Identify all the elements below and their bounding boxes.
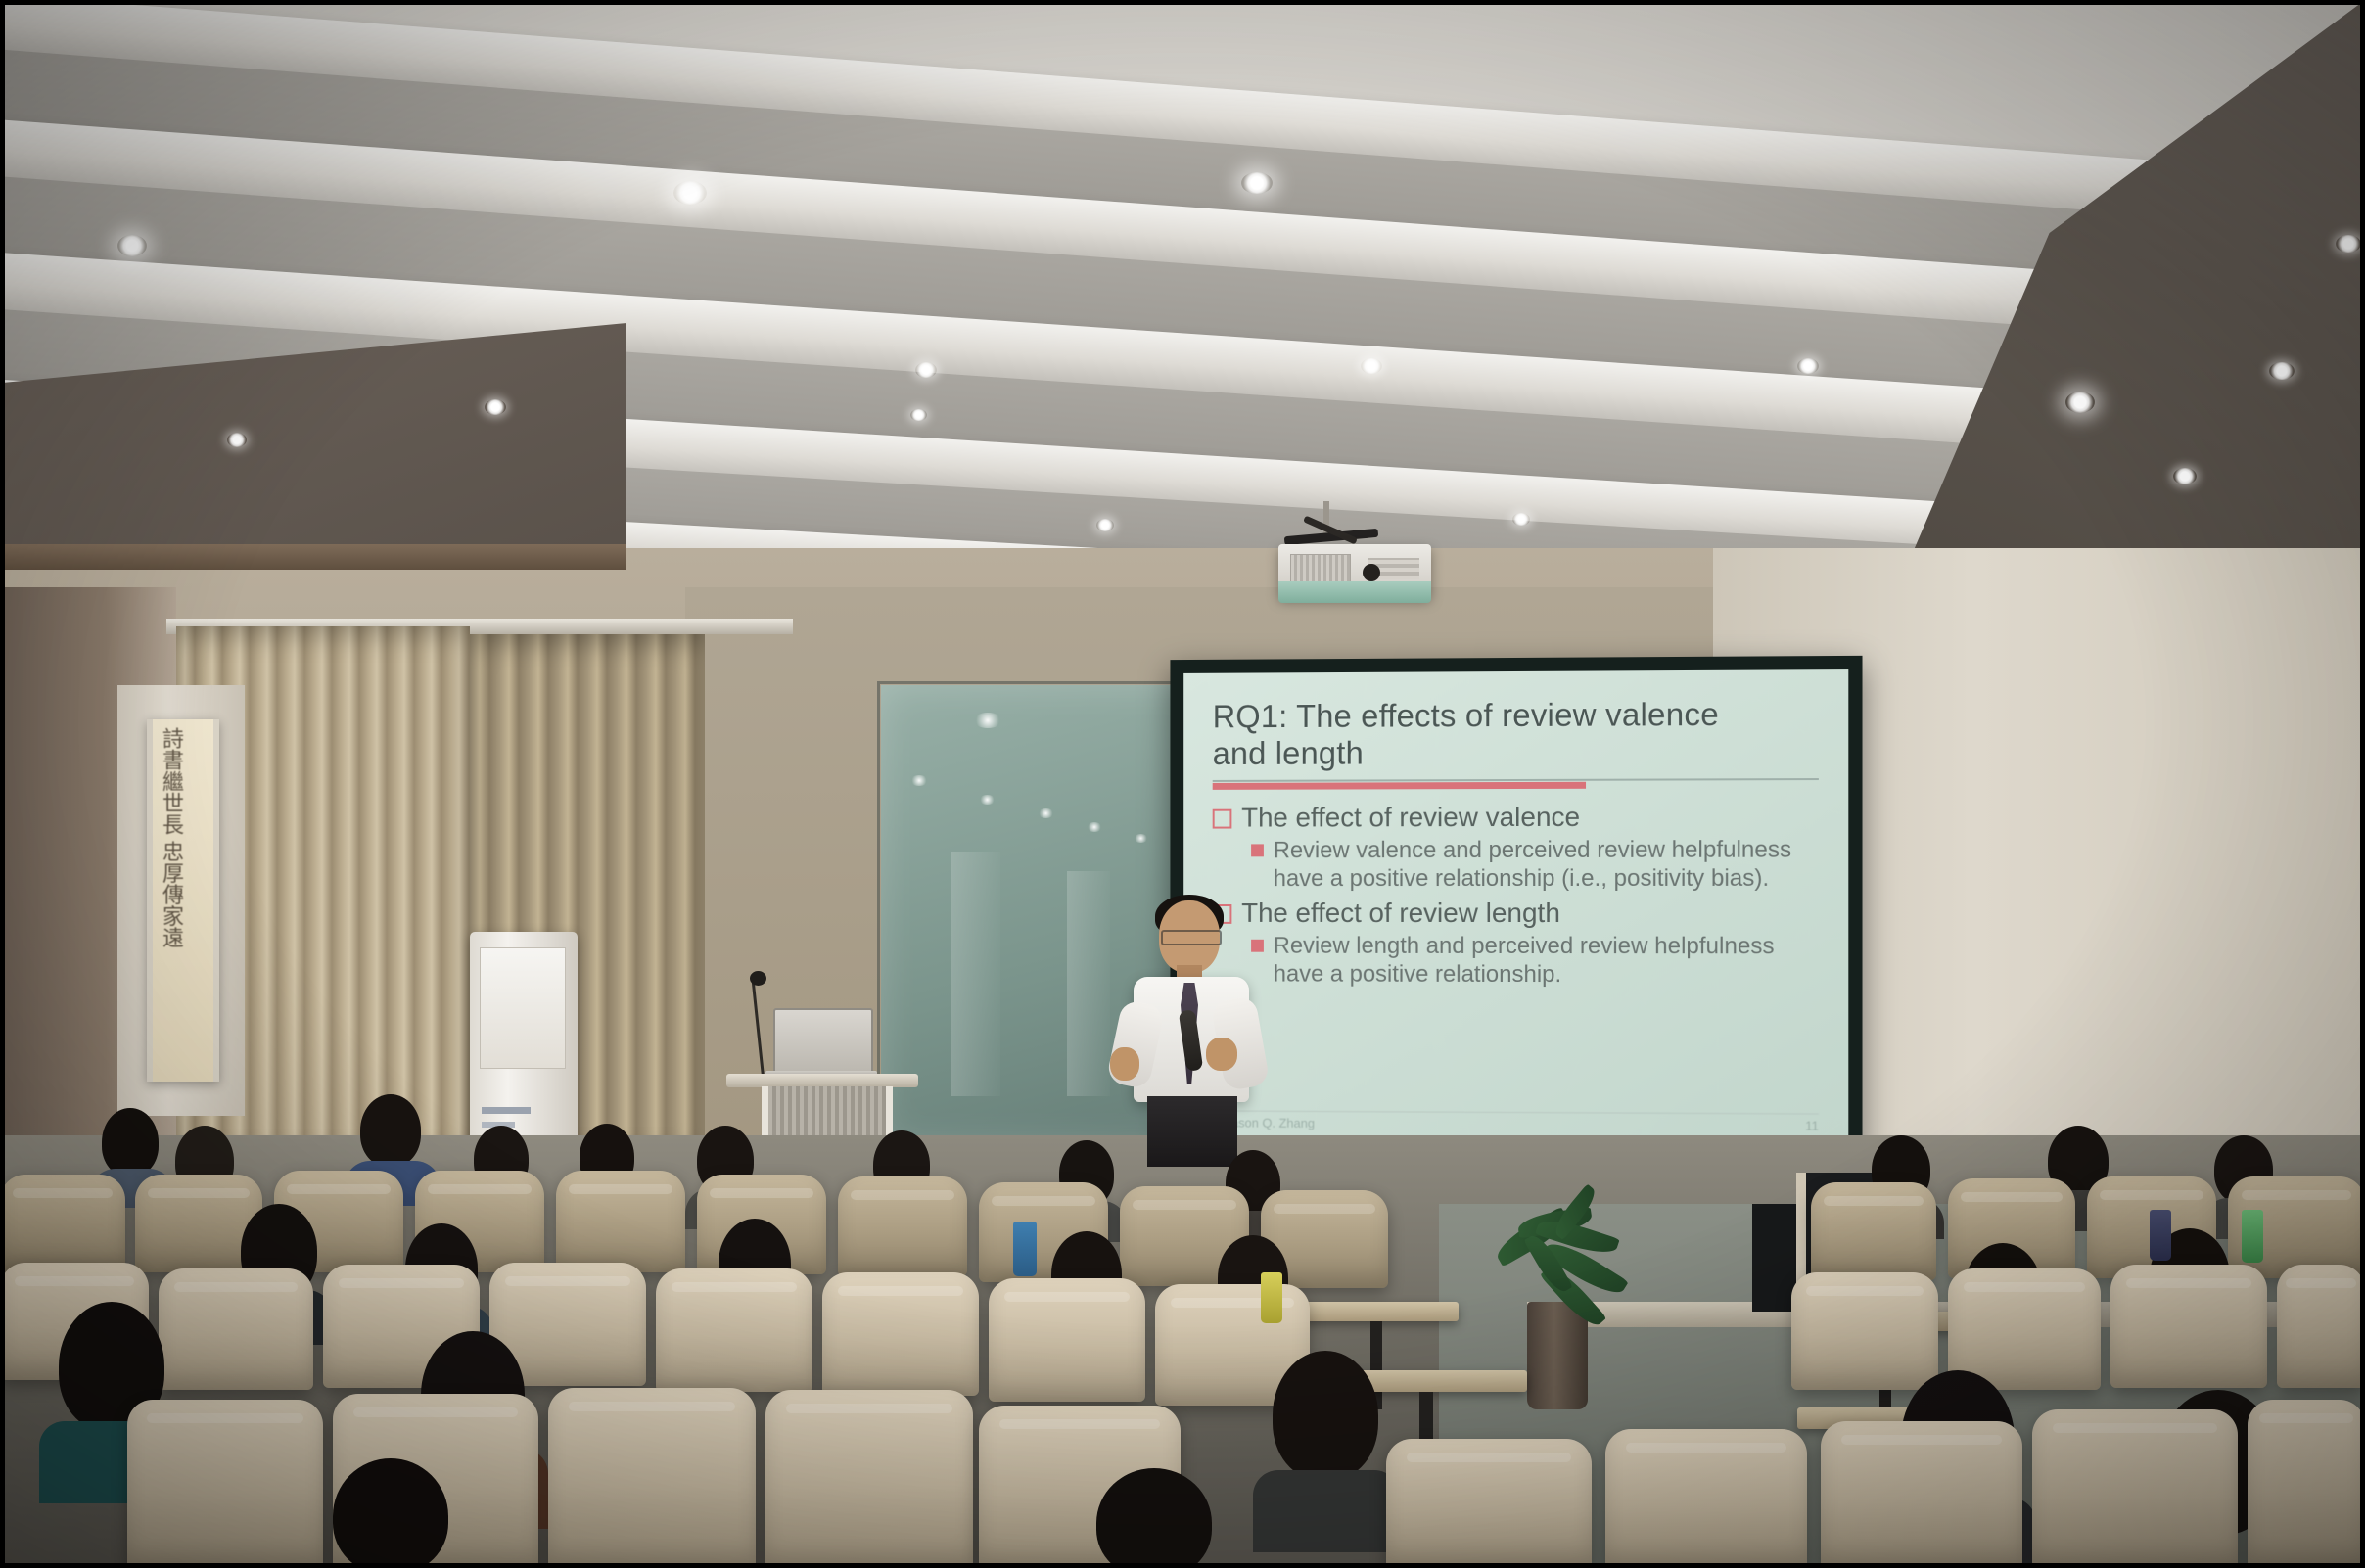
audience-person — [1253, 1351, 1400, 1546]
auditorium-seat[interactable] — [0, 1175, 125, 1272]
downlight-icon — [2173, 468, 2197, 484]
bullet-text: Review length and perceived review helpf… — [1274, 932, 1819, 990]
person-head — [360, 1094, 421, 1167]
laptop-screen[interactable] — [773, 1008, 873, 1077]
slide-title-line-2: and length — [1213, 733, 1819, 772]
bullet-text: Review valence and perceived review help… — [1274, 835, 1819, 893]
scroll-glyphs: 詩書繼世長 忠厚傳家遠 — [159, 727, 184, 1072]
slide-footer: © Jason Q. Zhang 11 — [1213, 1110, 1819, 1132]
bullet-text: The effect of review length — [1241, 897, 1560, 930]
water-bottle[interactable] — [2150, 1210, 2171, 1261]
wall-trim — [0, 544, 626, 570]
auditorium-seat[interactable] — [556, 1171, 685, 1272]
microphone-icon — [750, 971, 766, 986]
person-head — [1096, 1468, 1212, 1568]
downlight-icon — [1241, 172, 1273, 194]
auditorium-seat[interactable] — [989, 1278, 1145, 1402]
downlight-icon — [1797, 358, 1819, 374]
filled-square-bullet-icon — [1251, 844, 1264, 856]
projector-lens-icon — [1363, 564, 1380, 581]
downlight-icon — [2065, 392, 2095, 413]
slide-title: RQ1: The effects of review valence and l… — [1213, 695, 1819, 772]
downlight-icon — [227, 433, 247, 447]
person-head — [1273, 1351, 1378, 1480]
auditorium-seat[interactable] — [1605, 1429, 1807, 1568]
auditorium-seat[interactable] — [1386, 1439, 1592, 1568]
ac-label — [482, 1107, 531, 1114]
presenter-right-hand — [1206, 1038, 1237, 1071]
plant-pot — [1527, 1302, 1588, 1409]
water-bottle[interactable] — [2242, 1210, 2263, 1263]
slide-title-line-1: RQ1: The effects of review valence — [1213, 695, 1819, 735]
person-body — [1253, 1470, 1400, 1552]
downlight-icon — [117, 235, 147, 256]
auditorium-seat[interactable] — [838, 1176, 967, 1276]
ac-grill — [480, 947, 566, 1069]
downlight-icon — [1512, 513, 1530, 526]
lecture-hall-photo: 詩書繼世長 忠厚傳家遠 RQ1: — [0, 0, 2365, 1568]
tablet-desk — [1302, 1302, 1459, 1321]
audience-person — [1077, 1468, 1233, 1568]
auditorium-seat[interactable] — [2277, 1265, 2365, 1388]
downlight-icon — [673, 181, 707, 205]
slide-bullet-level2: Review valence and perceived review help… — [1251, 835, 1819, 893]
downlight-icon — [915, 362, 937, 378]
auditorium-seat[interactable] — [2032, 1409, 2238, 1568]
air-conditioner-unit — [470, 932, 578, 1147]
presentation-slide: RQ1: The effects of review valence and l… — [1183, 669, 1848, 1143]
bullet-text: The effect of review valence — [1241, 801, 1580, 835]
projector-glow — [1278, 581, 1431, 603]
slide-page-number: 11 — [1805, 1119, 1819, 1133]
lectern-top — [726, 1074, 918, 1087]
auditorium-seat[interactable] — [548, 1388, 756, 1568]
water-bottle[interactable] — [1013, 1222, 1037, 1276]
downlight-icon — [910, 409, 927, 421]
slide-title-divider — [1213, 776, 1819, 790]
person-head — [102, 1108, 159, 1176]
downlight-icon — [485, 399, 506, 415]
auditorium-seat[interactable] — [765, 1390, 973, 1568]
water-bottle[interactable] — [1261, 1272, 1282, 1323]
auditorium-seat[interactable] — [2110, 1265, 2267, 1388]
auditorium-seat[interactable] — [2248, 1400, 2365, 1568]
person-head — [333, 1458, 448, 1568]
glasses-icon — [1161, 930, 1222, 945]
calligraphy-scroll: 詩書繼世長 忠厚傳家遠 — [147, 719, 219, 1082]
presenter-left-hand — [1110, 1047, 1139, 1081]
slide-bullet-level1: The effect of review valence — [1213, 800, 1819, 834]
auditorium-seat[interactable] — [822, 1272, 979, 1396]
open-square-bullet-icon — [1213, 809, 1232, 829]
auditorium-seat[interactable] — [1821, 1421, 2022, 1568]
downlight-icon — [2336, 235, 2361, 253]
auditorium-seat[interactable] — [127, 1400, 323, 1568]
downlight-icon — [2269, 362, 2295, 380]
auditorium-seat[interactable] — [656, 1268, 812, 1392]
divider-thin-line — [1213, 778, 1819, 781]
auditorium-seat[interactable] — [1811, 1182, 1936, 1280]
downlight-icon — [1361, 358, 1382, 374]
divider-accent-bar — [1213, 782, 1587, 790]
projection-screen-surface: RQ1: The effects of review valence and l… — [1183, 669, 1848, 1143]
slide-bullet-level1: The effect of review length — [1213, 897, 1819, 930]
presenter — [1108, 900, 1275, 1163]
audience-person — [313, 1458, 470, 1568]
slide-bullet-level2: Review length and perceived review helpf… — [1251, 932, 1819, 990]
downlight-icon — [1096, 519, 1114, 531]
